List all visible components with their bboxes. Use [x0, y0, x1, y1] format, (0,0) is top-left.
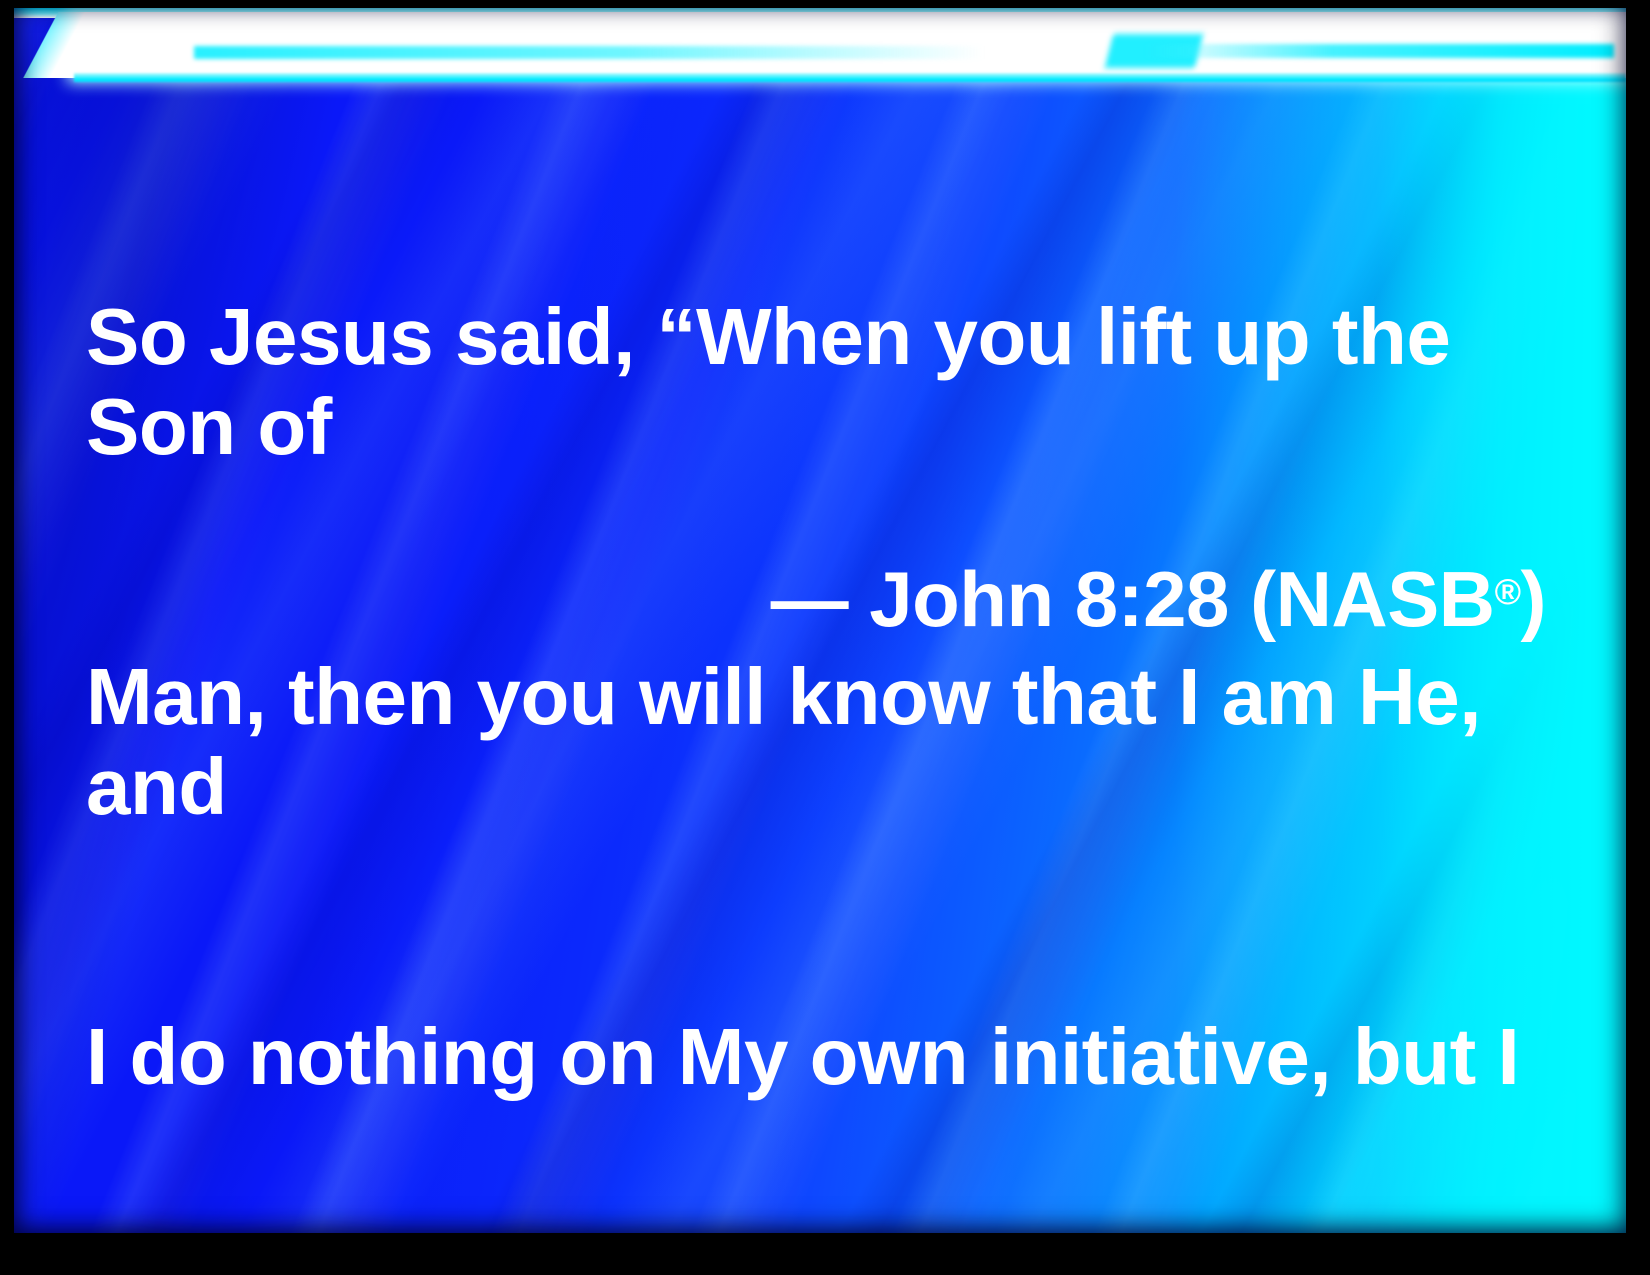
attribution-dash: — [771, 555, 849, 643]
verse-line-3: I do nothing on My own initiative, but I [86, 1012, 1556, 1102]
slide-canvas: So Jesus said, “When you lift up the Son… [14, 8, 1626, 1233]
attribution-translation: NASB [1276, 555, 1495, 643]
verse-attribution: — John 8:28 (NASB®) [86, 556, 1546, 642]
header-cyan-bottom-line [74, 73, 1626, 82]
header-glow-band [14, 8, 1626, 84]
attribution-close-paren: ) [1521, 555, 1546, 643]
header-cyan-streak-left [194, 46, 984, 59]
attribution-book: John [869, 555, 1053, 643]
attribution-open-paren: ( [1250, 555, 1275, 643]
verse-line-1: So Jesus said, “When you lift up the Son… [86, 292, 1556, 472]
verse-text: So Jesus said, “When you lift up the Son… [86, 112, 1556, 1233]
verse-line-2: Man, then you will know that I am He, an… [86, 652, 1556, 832]
header-cyan-streak-right [1144, 44, 1614, 58]
verse-slide: So Jesus said, “When you lift up the Son… [0, 0, 1650, 1275]
attribution-reference: 8:28 [1075, 555, 1229, 643]
registered-trademark-icon: ® [1495, 572, 1521, 612]
